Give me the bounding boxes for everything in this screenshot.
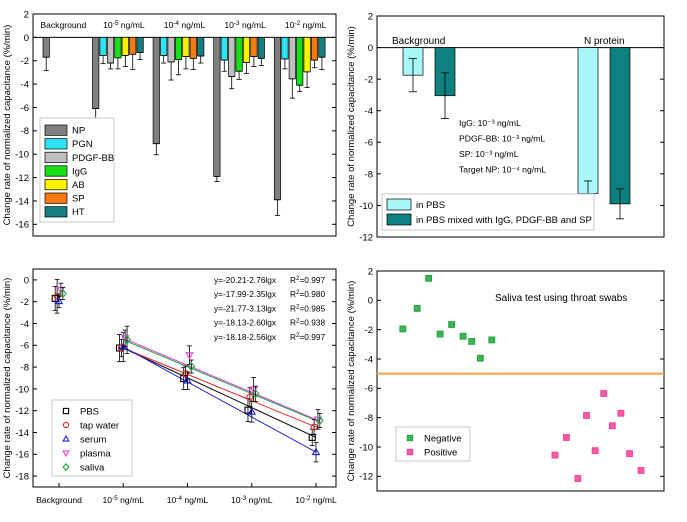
data-point-Positive-2 (575, 476, 581, 482)
legend-label-tap water: tap water (80, 420, 119, 431)
error-bar (123, 55, 128, 66)
data-point-Positive-9 (638, 468, 644, 474)
data-point-Positive-4 (592, 448, 598, 454)
error-bar (297, 85, 302, 91)
y-tick-label: -4 (21, 80, 29, 91)
svg-text:Background: Background (36, 495, 82, 505)
legend-marker-Positive (407, 449, 412, 454)
legend-swatch-NP (45, 125, 67, 135)
legend-label-saliva: saliva (80, 462, 105, 473)
error-bar (214, 176, 219, 181)
figure-grid: 20-2-4-6-8-10-12-14-16Change rate of nor… (0, 0, 687, 522)
legend-swatch-IgG (45, 166, 67, 176)
y-tick-label: -10 (15, 150, 29, 161)
data-point-Negative-1 (414, 306, 420, 312)
y-tick-label: -8 (21, 363, 29, 374)
bar-AB (304, 37, 310, 71)
y-tick-label: -4 (365, 354, 373, 365)
r2-saliva: R2=0.997 (290, 331, 325, 342)
annotation-line: Target NP: 10⁻⁴ ng/mL (459, 165, 546, 175)
error-bar (44, 57, 49, 70)
error-bar (305, 72, 310, 88)
data-point-Negative-7 (477, 355, 483, 361)
error-bar (312, 60, 317, 68)
y-tick-label: -2 (365, 325, 373, 336)
y-tick-label: -8 (21, 126, 29, 137)
bar-HT (198, 37, 204, 56)
bar-PGN (221, 37, 227, 60)
y-tick-label: -12 (359, 472, 373, 483)
data-point-Positive-8 (627, 451, 633, 457)
legend-label-HT: HT (72, 207, 85, 218)
trend-line-saliva (123, 340, 316, 421)
y-axis-label: Change rate of normalized capacitance (%… (346, 26, 357, 227)
error-bar (130, 54, 135, 69)
legend-swatch-0 (387, 199, 411, 210)
legend-swatch-AB (45, 179, 67, 189)
y-tick-label: 0 (24, 33, 29, 44)
data-point-Positive-1 (564, 435, 570, 441)
r2-tap water: R2=0.980 (290, 289, 325, 300)
y-tick-label: -14 (15, 196, 29, 207)
legend-label-NP: NP (72, 126, 85, 137)
legend-label-plasma: plasma (80, 448, 111, 459)
legend-marker-Negative (407, 435, 412, 440)
y-tick-label: -8 (365, 169, 373, 180)
svg-text:10-2 ng/mL: 10-2 ng/mL (285, 20, 327, 31)
legend-label-Positive: Positive (424, 448, 457, 459)
y-tick-label: -16 (15, 450, 29, 461)
category-label: 10-3 ng/mL (224, 20, 266, 31)
svg-text:IgG: 10⁻³ ng/mL: IgG: 10⁻³ ng/mL (459, 118, 521, 128)
bar-HT (258, 37, 264, 58)
data-point-Negative-3 (437, 331, 443, 337)
y-tick-label: 2 (24, 9, 29, 20)
bar-PDGF-BB (289, 37, 295, 78)
error-bar (154, 144, 159, 155)
panel-title: Saliva test using throat swabs (495, 293, 627, 304)
legend-swatch-1 (387, 214, 411, 225)
legend-swatch-PGN (45, 139, 67, 149)
bar-SP (251, 37, 257, 56)
legend-label-SP: SP (72, 194, 85, 205)
y-tick-label: 2 (368, 11, 373, 22)
bar-HT (319, 37, 325, 57)
category-label: 10-5 ng/mL (103, 20, 145, 31)
legend-label-IgG: IgG (72, 166, 87, 177)
y-axis-label: Change rate of normalized capacitance (%… (2, 278, 13, 479)
data-point-Negative-0 (400, 326, 406, 332)
bar-AB (122, 37, 128, 55)
error-bar (237, 71, 242, 79)
y-tick-label: 0 (24, 275, 29, 286)
data-point-Positive-6 (609, 423, 615, 429)
y-tick-label: -4 (21, 319, 29, 330)
bar-SP (190, 37, 196, 58)
annotation-line: PDGF-BB: 10⁻³ ng/mL (459, 134, 545, 144)
y-tick-label: 0 (368, 43, 373, 54)
svg-text:10-2 ng/mL: 10-2 ng/mL (295, 495, 337, 506)
y-tick-label: -6 (365, 384, 373, 395)
legend-label-Negative: Negative (424, 434, 462, 445)
bar-IgG (115, 37, 121, 57)
error-bar (191, 58, 196, 69)
bar-AB (183, 37, 189, 56)
equation-serum: y=-21.77-3.13lgx (214, 303, 277, 313)
svg-text:Target NP: 10⁻⁴ ng/mL: Target NP: 10⁻⁴ ng/mL (459, 165, 546, 175)
bar-SP (311, 37, 317, 60)
error-bar (229, 77, 234, 89)
y-tick-label: -12 (359, 232, 373, 243)
bar-PDGF-BB (107, 37, 113, 63)
svg-text:PDGF-BB: 10⁻³ ng/mL: PDGF-BB: 10⁻³ ng/mL (459, 134, 545, 144)
data-point-Negative-5 (460, 333, 466, 339)
r2-serum: R2=0.985 (290, 303, 325, 314)
bar-IgG (236, 37, 242, 71)
error-bar (251, 57, 256, 67)
data-point-Negative-4 (449, 322, 455, 328)
error-bar (222, 60, 227, 71)
error-bar (176, 60, 181, 75)
bar-1-0 (578, 48, 598, 194)
error-bar (161, 55, 166, 63)
data-point-Positive-7 (618, 410, 624, 416)
data-point-Positive-5 (601, 391, 607, 397)
error-bar (183, 57, 188, 69)
bar-NP (214, 37, 220, 176)
y-axis-label: Change rate of normalized capacitance (%… (2, 25, 13, 226)
data-point-Negative-2 (426, 275, 432, 281)
svg-text:10-3 ng/mL: 10-3 ng/mL (224, 20, 266, 31)
legend-label-PDGF-BB: PDGF-BB (72, 153, 114, 164)
y-tick-label: 0 (368, 296, 373, 307)
y-tick-label: -12 (15, 406, 29, 417)
bar-PGN (161, 37, 167, 55)
r2-PBS: R2=0.997 (290, 275, 325, 286)
error-bar (282, 59, 287, 69)
category-label: Background (36, 495, 82, 505)
bar-NP (93, 37, 99, 108)
trend-line-serum (123, 347, 316, 452)
legend-swatch-PDGF-BB (45, 152, 67, 162)
bar-NP (43, 37, 49, 57)
y-tick-label: -14 (15, 428, 29, 439)
y-tick-label: -4 (365, 106, 373, 117)
y-tick-label: -2 (365, 75, 373, 86)
data-point-Positive-0 (552, 452, 558, 458)
legend-swatch-HT (45, 207, 67, 217)
svg-text:10-4 ng/mL: 10-4 ng/mL (167, 495, 209, 506)
legend-swatch-SP (45, 193, 67, 203)
y-tick-label: -6 (21, 103, 29, 114)
category-label: Background (40, 20, 86, 30)
bar-PDGF-BB (229, 37, 235, 76)
y-tick-label: -12 (15, 173, 29, 184)
category-label: 10-4 ng/mL (164, 20, 206, 31)
bar-SP (130, 37, 136, 54)
error-bar (198, 56, 203, 63)
error-bar (319, 57, 324, 69)
y-axis-label: Change rate of normalized capacitance (%… (346, 281, 357, 482)
y-tick-label: -10 (359, 201, 373, 212)
category-label: 10-2 ng/mL (295, 495, 337, 506)
error-bar (275, 200, 280, 216)
legend-label-0: in PBS (416, 200, 445, 211)
equation-saliva: y=-18.18-2.56lgx (214, 332, 277, 342)
bar-IgG (297, 37, 303, 85)
trend-line-PBS (123, 348, 316, 437)
error-bar (138, 53, 143, 60)
y-tick-label: -2 (21, 297, 29, 308)
error-bar (290, 79, 295, 98)
y-tick-label: -6 (365, 138, 373, 149)
svg-text:10-3 ng/mL: 10-3 ng/mL (231, 495, 273, 506)
svg-text:10-4 ng/mL: 10-4 ng/mL (164, 20, 206, 31)
equation-plasma: y=-18.13-2.60lgx (214, 318, 277, 328)
bar-IgG (175, 37, 181, 59)
annotation-line: SP: 10⁻³ ng/mL (459, 149, 519, 159)
bar-HT (137, 37, 143, 52)
y-tick-label: 2 (368, 266, 373, 277)
trend-line-tap water (123, 348, 316, 427)
panel-a-bar-chart: 20-2-4-6-8-10-12-14-16Change rate of nor… (0, 0, 344, 261)
svg-text:10-5 ng/mL: 10-5 ng/mL (103, 20, 145, 31)
annotation-line: IgG: 10⁻³ ng/mL (459, 118, 521, 128)
bar-NP (274, 37, 280, 199)
data-point-Positive-3 (584, 413, 590, 419)
bar-PGN (282, 37, 288, 59)
data-point-Negative-6 (469, 339, 475, 345)
category-label: 10-5 ng/mL (102, 495, 144, 506)
svg-text:SP: 10⁻³ ng/mL: SP: 10⁻³ ng/mL (459, 149, 519, 159)
svg-text:10-5 ng/mL: 10-5 ng/mL (102, 495, 144, 506)
y-tick-label: -18 (15, 472, 29, 483)
error-bar (115, 58, 120, 69)
bar-PGN (100, 37, 106, 55)
y-tick-label: -8 (365, 413, 373, 424)
bar-NP (153, 37, 159, 143)
y-tick-label: -2 (21, 56, 29, 67)
panel-d-scatter-chart: 20-2-4-6-8-10-12Change rate of normalize… (344, 261, 687, 522)
category-label: 10-2 ng/mL (285, 20, 327, 31)
category-label: 10-3 ng/mL (231, 495, 273, 506)
legend-label-AB: AB (72, 180, 85, 191)
bar-PDGF-BB (168, 37, 174, 62)
error-bar (169, 62, 174, 80)
equation-tap water: y=-17.99-2.35lgx (214, 289, 277, 299)
panel-b-bar-chart: 20-2-4-6-8-10-12Change rate of normalize… (344, 0, 687, 261)
equation-PBS: y=-20.21-2.76lgx (214, 275, 277, 285)
error-bar (108, 63, 113, 69)
y-tick-label: -6 (21, 341, 29, 352)
trend-line-plasma (123, 338, 316, 419)
data-point-Negative-8 (489, 337, 495, 343)
legend-label-PBS: PBS (80, 406, 99, 417)
error-bar (259, 58, 264, 65)
y-tick-label: -16 (15, 220, 29, 231)
group-label-n-protein: N protein (584, 36, 625, 47)
y-tick-label: -10 (15, 384, 29, 395)
legend-label-PGN: PGN (72, 139, 93, 150)
legend-label-serum: serum (80, 434, 106, 445)
legend-label-1: in PBS mixed with IgG, PDGF-BB and SP (416, 215, 592, 226)
category-label: 10-4 ng/mL (167, 495, 209, 506)
r2-plasma: R2=0.938 (290, 317, 325, 328)
bar-AB (243, 37, 249, 62)
y-tick-label: -10 (359, 442, 373, 453)
svg-text:Background: Background (40, 20, 86, 30)
group-label-background: Background (392, 36, 445, 47)
panel-c-line-chart: 0-2-4-6-8-10-12-14-16-18Change rate of n… (0, 261, 344, 522)
bar-1-1 (610, 48, 630, 204)
error-bar (244, 62, 249, 73)
error-bar (101, 55, 106, 63)
